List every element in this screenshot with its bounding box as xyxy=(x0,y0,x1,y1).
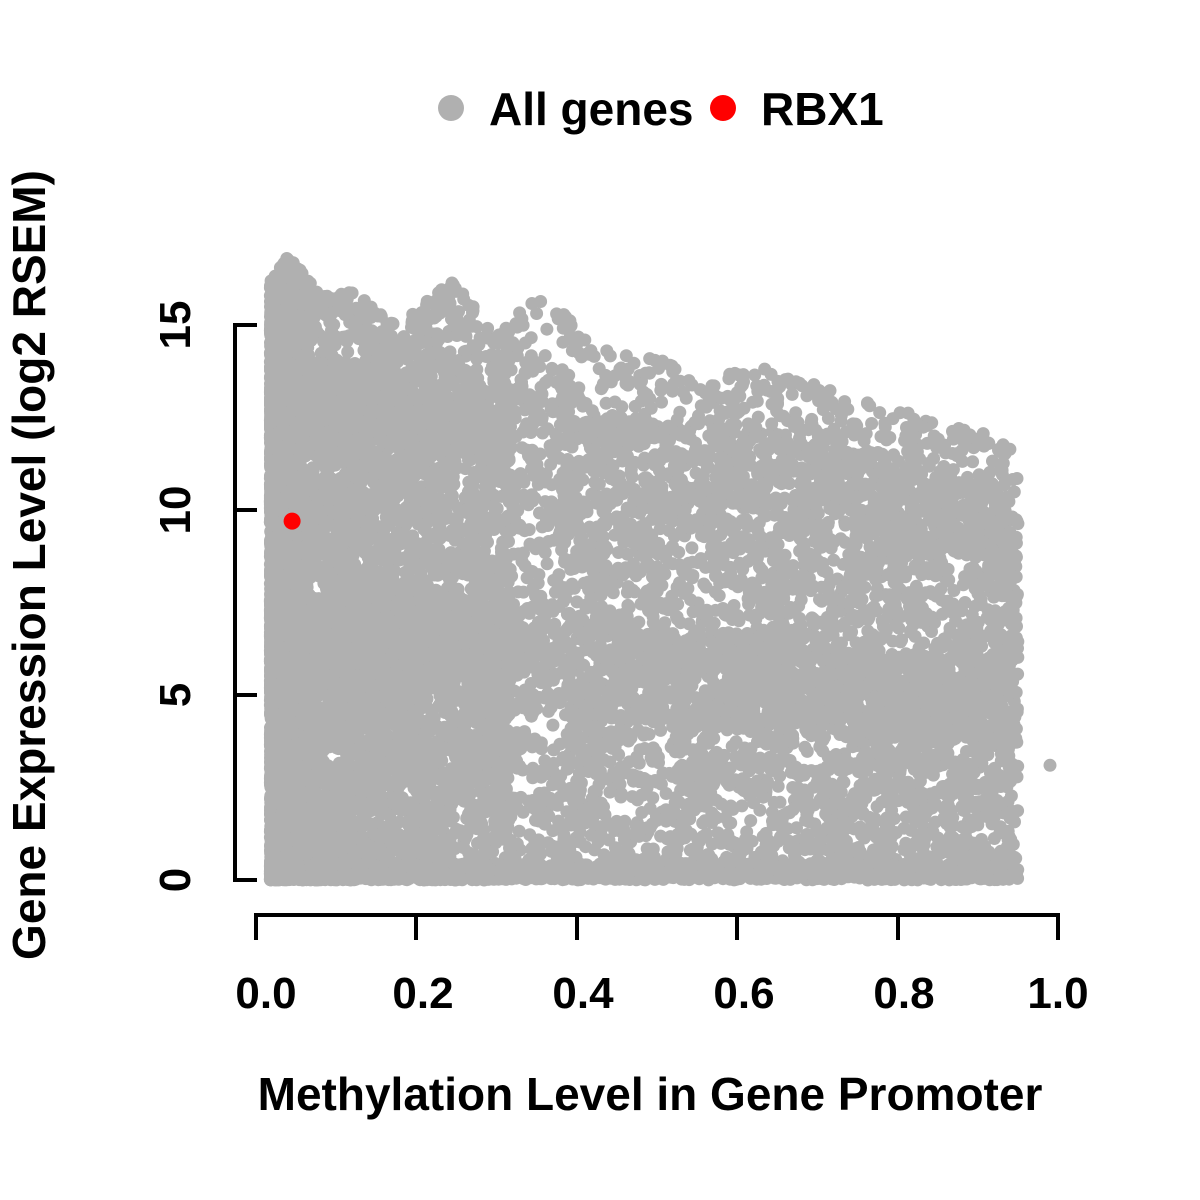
scatter-plot-figure: 15 10 5 0 0.0 0.2 0.4 0.6 0.8 1.0 Methyl… xyxy=(0,0,1200,1200)
x-tick-label-0p2: 0.2 xyxy=(392,969,453,1018)
legend-marker-rbx1 xyxy=(710,95,736,121)
legend-marker-all-genes xyxy=(438,95,464,121)
legend-label-all-genes: All genes xyxy=(489,83,694,135)
x-tick-label-0p0: 0.0 xyxy=(235,969,296,1018)
x-tick-label-0p8: 0.8 xyxy=(873,969,934,1018)
series-rbx1-points xyxy=(284,513,301,530)
y-tick-label-10: 10 xyxy=(151,486,200,535)
y-axis-title: Gene Expression Level (log2 RSEM) xyxy=(3,170,55,960)
y-tick-label-0: 0 xyxy=(151,868,200,892)
legend: All genes RBX1 xyxy=(438,83,884,135)
x-axis-title: Methylation Level in Gene Promoter xyxy=(258,1068,1043,1120)
y-tick-label-5: 5 xyxy=(151,683,200,707)
legend-label-rbx1: RBX1 xyxy=(761,83,884,135)
plot-canvas: 15 10 5 0 0.0 0.2 0.4 0.6 0.8 1.0 Methyl… xyxy=(0,0,1200,1200)
x-tick-label-0p4: 0.4 xyxy=(552,969,614,1018)
y-tick-label-15: 15 xyxy=(151,301,200,350)
x-tick-label-1p0: 1.0 xyxy=(1027,969,1088,1018)
x-tick-label-0p6: 0.6 xyxy=(713,969,774,1018)
